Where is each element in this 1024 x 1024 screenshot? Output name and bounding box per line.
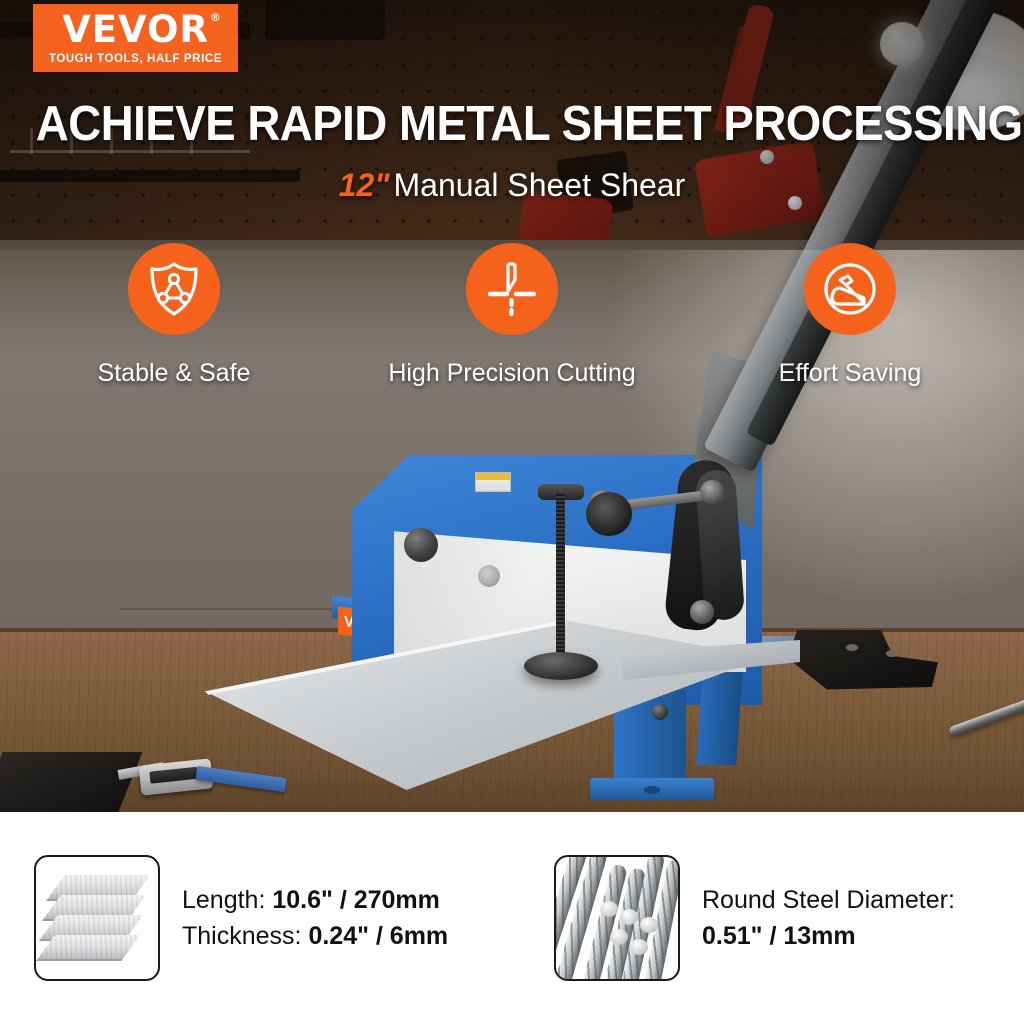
- feature-icon-badge: [804, 243, 896, 335]
- machine-warning-sticker: [475, 472, 511, 492]
- spec-value: 0.24" / 6mm: [308, 922, 448, 950]
- rebar-end-cap: [600, 901, 618, 917]
- shield-triangle-icon: [147, 261, 201, 317]
- vevor-logo: VEVOR® TOUGH TOOLS, HALF PRICE: [33, 4, 238, 72]
- feature-effort-saving: Effort Saving: [740, 243, 960, 388]
- product-marketing-poster: VEV: [0, 0, 1024, 1024]
- rebar-end-cap: [620, 909, 638, 925]
- feature-label: High Precision Cutting: [388, 359, 635, 388]
- hold-down-pad: [524, 652, 598, 680]
- feature-stable-safe: Stable & Safe: [64, 243, 284, 388]
- logo-tagline: TOUGH TOOLS, HALF PRICE: [49, 53, 222, 65]
- product-name: Manual Sheet Shear: [394, 167, 686, 203]
- spec-label: Length:: [182, 886, 265, 914]
- spec-text: Round Steel Diameter: 0.51" / 13mm: [702, 882, 955, 955]
- pivot-hub: [586, 492, 632, 536]
- page-title: ACHIEVE RAPID METAL SHEET PROCESSING: [36, 96, 988, 152]
- blade-cut-line-icon: [484, 260, 540, 318]
- product-photo: VEV: [0, 0, 1024, 812]
- registered-trademark-icon: ®: [210, 12, 222, 23]
- feature-icon-badge: [128, 243, 220, 335]
- specification-panel: Length: 10.6" / 270mm Thickness: 0.24" /…: [0, 812, 1024, 1024]
- feature-high-precision-cutting: High Precision Cutting: [402, 243, 622, 388]
- hold-down-screw: [556, 492, 565, 662]
- machine-foot-bolt-hole: [644, 786, 660, 794]
- spec-text: Length: 10.6" / 270mm Thickness: 0.24" /…: [182, 882, 448, 955]
- spec-sheet-metal: Length: 10.6" / 270mm Thickness: 0.24" /…: [0, 855, 520, 981]
- linkage-pin: [690, 600, 714, 624]
- spec-label: Round Steel Diameter:: [702, 886, 955, 914]
- spec-label: Thickness:: [182, 922, 301, 950]
- logo-wordmark: VEVOR®: [62, 11, 209, 48]
- hand-lever-icon: [821, 260, 879, 318]
- sticker-yellow-bar: [476, 473, 510, 480]
- spec-value: 10.6" / 270mm: [272, 886, 440, 914]
- product-size: 12": [339, 167, 390, 203]
- machine-face-hole: [478, 565, 500, 587]
- rebar-end-cap: [640, 917, 658, 933]
- round-steel-rebar-thumbnail: [554, 855, 680, 981]
- feature-icon-badge: [466, 243, 558, 335]
- feature-list: Stable & Safe High Precision Cutting: [0, 243, 1024, 388]
- product-subtitle: 12"Manual Sheet Shear: [0, 167, 1024, 204]
- linkage-pin: [700, 480, 724, 504]
- rebar-end-cap: [630, 939, 648, 955]
- feature-label: Stable & Safe: [98, 359, 251, 388]
- feature-label: Effort Saving: [779, 359, 922, 388]
- machine-leg-bolt: [652, 704, 668, 720]
- machine-pivot-bolt: [404, 528, 438, 562]
- spec-line-2: Thickness: 0.24" / 6mm: [182, 918, 448, 954]
- metal-sheet-stack-thumbnail: [34, 855, 160, 981]
- rebar-end-cap: [610, 929, 628, 945]
- spec-value: 0.51" / 13mm: [702, 918, 955, 954]
- spec-round-steel: Round Steel Diameter: 0.51" / 13mm: [520, 855, 1024, 981]
